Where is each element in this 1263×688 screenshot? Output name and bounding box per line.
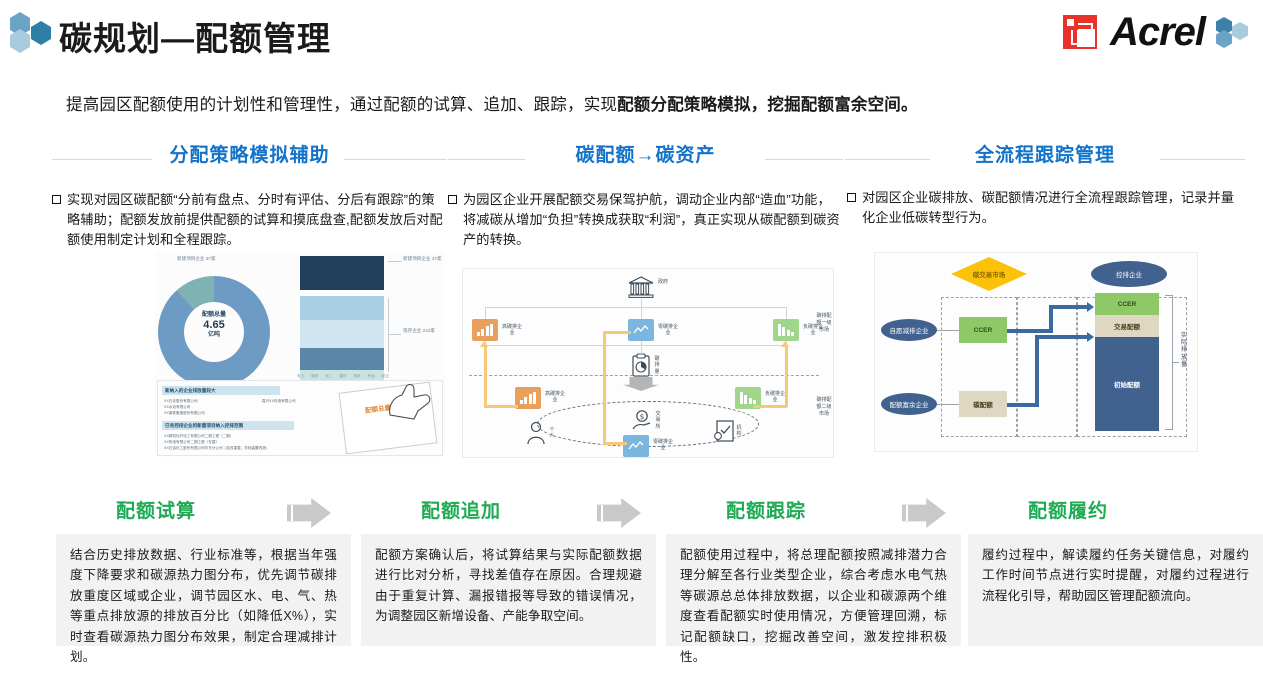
down-arrow-icon [623, 377, 659, 391]
hexagon-cluster-icon [8, 11, 54, 53]
subtitle-normal: 提高园区配额使用的计划性和管理性，通过配额的试算、追加、跟踪，实现 [66, 96, 617, 114]
flow-arrow-2 [597, 498, 641, 528]
high-emission-company-icon [472, 319, 498, 341]
stack-segment [300, 256, 384, 290]
info-line: 嘉兴XX热电有限公司 [262, 399, 342, 404]
dashed-region-mid [1017, 297, 1077, 437]
stack-label-new: 新建项目企业 37家 [403, 256, 443, 262]
node-label-person: 个人 [548, 427, 556, 440]
step-title-4: 配额履约 [968, 496, 1168, 523]
blue-arrow-head [1087, 302, 1094, 312]
heading-rule [1160, 159, 1245, 160]
yellow-flow-arrow [603, 331, 606, 445]
heading-rule [448, 159, 525, 160]
brace-tick [1172, 362, 1179, 363]
bar-chart-down-icon [740, 392, 757, 404]
column-body-3: 对园区企业碳排放、碳配额情况进行全流程跟踪管理，记录并量化企业低碳转型行为。 [847, 188, 1243, 228]
page-subtitle: 提高园区配额使用的计划性和管理性，通过配额的试算、追加、跟踪，实现配额分配策略模… [66, 91, 1196, 115]
yellow-flow-arrow [603, 442, 627, 445]
carbon-quota-box-left: 碳配额 [959, 391, 1007, 417]
legend-item: 造纸 [354, 374, 361, 379]
donut-chart: 配额总量 4.65 亿吨 [158, 276, 278, 394]
blue-arrow-line [1007, 329, 1053, 333]
donut-label-title: 配额总量 [184, 312, 244, 319]
legend-item: 建材 [339, 374, 346, 379]
info-line: XX石油化工股份有限公司华东分公司（技改重整、芳烃装置改造） [164, 446, 354, 451]
column-heading-2: 碳配额→碳资产 [448, 140, 843, 167]
heading-rule [52, 159, 152, 160]
flow-line [641, 347, 642, 354]
trade-quota-stack-segment: 交易配额 [1095, 315, 1159, 337]
hexagon-cluster-right-icon [1215, 16, 1249, 48]
flow-arrow-3 [902, 498, 946, 528]
bar-chart-up-icon [477, 324, 494, 336]
legend-item: 航空 [382, 374, 389, 379]
page-title: 碳规划—配额管理 [59, 12, 331, 60]
institution-icon [713, 419, 735, 448]
stack-legend: 电力 钢铁 化工 建材 造纸 有色 航空 [297, 374, 389, 379]
node-label-high-emission-2: 高碳排企业 [545, 391, 565, 404]
yellow-flow-arrow [603, 331, 631, 334]
controlled-enterprise-ellipse: 控排企业 [1091, 261, 1167, 287]
yellow-flow-arrow [484, 405, 518, 408]
column-body-text-3: 对园区企业碳排放、碳配额情况进行全流程跟踪管理，记录并量化企业低碳转型行为。 [862, 188, 1243, 228]
column-heading-3: 全流程跟踪管理 [845, 140, 1245, 167]
blue-arrow-line [1035, 335, 1089, 339]
column-heading-1: 分配策略模拟辅助 [52, 140, 447, 167]
yellow-arrow-head [781, 341, 789, 347]
stack-leader-line [388, 261, 402, 262]
figure-ccer-trading: 碳交易市场 控排企业 自愿减排企业 配额富余企业 CCER 碳配额 CCER 交… [874, 252, 1198, 452]
acrel-mark-icon [1060, 12, 1100, 52]
column-body-1: 实现对园区碳配额“分前有盘点、分时有评估、分后有跟踪”的策略辅助；配额发放前提供… [52, 190, 444, 250]
step-box-3: 配额使用过程中，将总理配额按照减排潜力合理分解至各行业类型企业，综合考虑水电气热… [666, 534, 961, 646]
high-emission-company-icon-2 [515, 387, 541, 409]
line-chart-icon [633, 324, 649, 336]
node-label-zero-emission-2: 零碳排企业 [653, 439, 673, 452]
blue-arrow-line [1049, 305, 1089, 309]
column-body-2: 为园区企业开展配额交易保驾护航，调动企业内部“造血”功能，将减碳从增加“负担”转… [448, 190, 840, 250]
figure-quota-overview: 新建项目企业 37家 配额总量 4.65 亿吨 现存企业配额 4.38亿吨 新建… [155, 252, 445, 457]
node-label-negative-emission-2: 负碳排企业 [765, 391, 785, 404]
ccer-box-left: CCER [959, 317, 1007, 343]
yellow-flow-arrow [753, 405, 787, 408]
donut-label-value: 4.65 [184, 319, 244, 332]
market-label-primary: 碳排配额一级市场 [815, 313, 833, 333]
node-label-exchange: 交易所 [654, 411, 662, 430]
page-header: 碳规划—配额管理 Acrel [0, 0, 1263, 72]
stack-brace [388, 298, 389, 372]
voluntary-reduction-enterprise: 自愿减排企业 [881, 319, 937, 341]
step-box-2: 配额方案确认后，将试算结果与实际配额数据进行比对分析，寻找差值存在原因。合理规避… [361, 534, 656, 646]
heading-rule [765, 159, 843, 160]
bullet-square-icon [52, 195, 61, 204]
flow-line [485, 345, 787, 346]
blue-arrow-line [1049, 305, 1053, 333]
blue-arrow-head [1087, 332, 1094, 342]
yellow-flow-arrow [785, 347, 788, 407]
bullet-square-icon [847, 193, 856, 202]
column-body-text-2: 为园区企业开展配额交易保驾护航，调动企业内部“造血”功能，将减碳从增加“负担”转… [463, 190, 840, 250]
info-line: XX热电有限公司二期工程（在建） [164, 440, 334, 445]
zero-emission-company-icon [628, 319, 654, 341]
step-title-1: 配额试算 [56, 496, 256, 523]
hand-coin-icon: $ [631, 409, 653, 436]
figure-carbon-market-flow: 政府 高碳排企业 零碳排企业 负碳排企业 碳排配额一级市场 碳排量 [462, 268, 834, 458]
stack-label-existing: 现存企业 242家 [403, 328, 443, 334]
flow-line [641, 307, 642, 319]
market-label-secondary: 碳排配额二级市场 [815, 397, 833, 417]
step-title-3: 配额跟踪 [666, 496, 866, 523]
negative-emission-company-icon [773, 319, 799, 341]
stack-segment [300, 296, 384, 320]
brand-name: Acrel [1110, 12, 1205, 52]
hand-icon [384, 381, 440, 421]
yellow-flow-arrow [484, 347, 487, 407]
node-label-institution: 机构 [735, 425, 743, 438]
flow-line [786, 307, 787, 319]
stack-leader-line [388, 334, 401, 335]
info-bar-1: 新纳入的企业排放量较大 [162, 386, 280, 395]
market-separator [469, 375, 819, 376]
initial-quota-stack-segment: 初始配额 [1095, 337, 1159, 431]
brand-logo: Acrel [1060, 8, 1249, 56]
surplus-quota-enterprise: 配额富余企业 [881, 393, 937, 415]
hexagon-decoration-left [8, 11, 54, 53]
subtitle-bold: 配额分配策略模拟，挖掘配额富余空间。 [617, 96, 918, 114]
donut-center-label: 配额总量 4.65 亿吨 [184, 312, 244, 338]
node-label-quota: 碳排量 [653, 356, 661, 375]
step-box-1: 结合历史排放数据、行业标准等，根据当年强度下降要求和碳源热力图分布，优先调节碳排… [56, 534, 351, 646]
legend-item: 有色 [368, 374, 375, 379]
blue-arrow-line [1035, 335, 1039, 407]
zero-emission-company-icon-2 [623, 435, 649, 457]
connector-line [937, 330, 959, 331]
hexagon-decoration-right [1215, 16, 1249, 48]
donut-callout-top: 新建项目企业 37家 [177, 256, 237, 262]
connector-line [937, 404, 959, 405]
info-line: XX钢铁集团股份有限公司 [164, 411, 256, 416]
ccer-stack-segment: CCER [1095, 293, 1159, 315]
column-body-text-1: 实现对园区碳配额“分前有盘点、分时有评估、分后有跟踪”的策略辅助；配额发放前提供… [67, 190, 444, 250]
stack-segment [300, 320, 384, 348]
line-chart-icon [628, 440, 644, 452]
donut-label-unit: 亿吨 [184, 332, 244, 339]
yellow-arrow-head [480, 341, 488, 347]
step-title-2: 配额追加 [361, 496, 561, 523]
info-card: 新纳入的企业排放量较大 XX石化股份有限公司 XX水泥有限公司 XX钢铁集团股份… [157, 380, 443, 456]
flow-line [641, 341, 642, 346]
info-bar-2: 已有控排企业的新建项目纳入控排范围 [162, 421, 294, 430]
flow-line [485, 307, 486, 319]
carbon-market-diamond: 碳交易市场 [951, 257, 1027, 291]
flow-arrow-1 [287, 498, 331, 528]
node-label-high-emission: 高碳排企业 [502, 324, 522, 337]
actual-emission-label: 实际排放量 [1180, 333, 1188, 369]
info-line: XX精机化纤化工有限公司二期工程（二期） [164, 434, 334, 439]
person-icon [525, 421, 547, 450]
svg-text:$: $ [640, 413, 644, 421]
step-box-4: 履约过程中，解读履约任务关键信息，对履约工作时间节点进行实时提醒，对履约过程进行… [968, 534, 1263, 646]
info-line: XX石化股份有限公司 [164, 399, 256, 404]
info-line: XX水泥有限公司 [164, 405, 256, 410]
bar-chart-up-icon [520, 392, 537, 404]
node-label-government: 政府 [656, 279, 670, 285]
legend-item: 电力 [297, 374, 304, 379]
legend-item: 化工 [325, 374, 332, 379]
legend-item: 钢铁 [311, 374, 318, 379]
bullet-square-icon [448, 195, 457, 204]
node-label-zero-emission: 零碳排企业 [658, 324, 678, 337]
heading-rule [845, 159, 930, 160]
bar-chart-down-icon [778, 324, 795, 336]
heading-rule [344, 159, 447, 160]
flow-line [485, 307, 787, 308]
stack-segment [300, 348, 384, 370]
